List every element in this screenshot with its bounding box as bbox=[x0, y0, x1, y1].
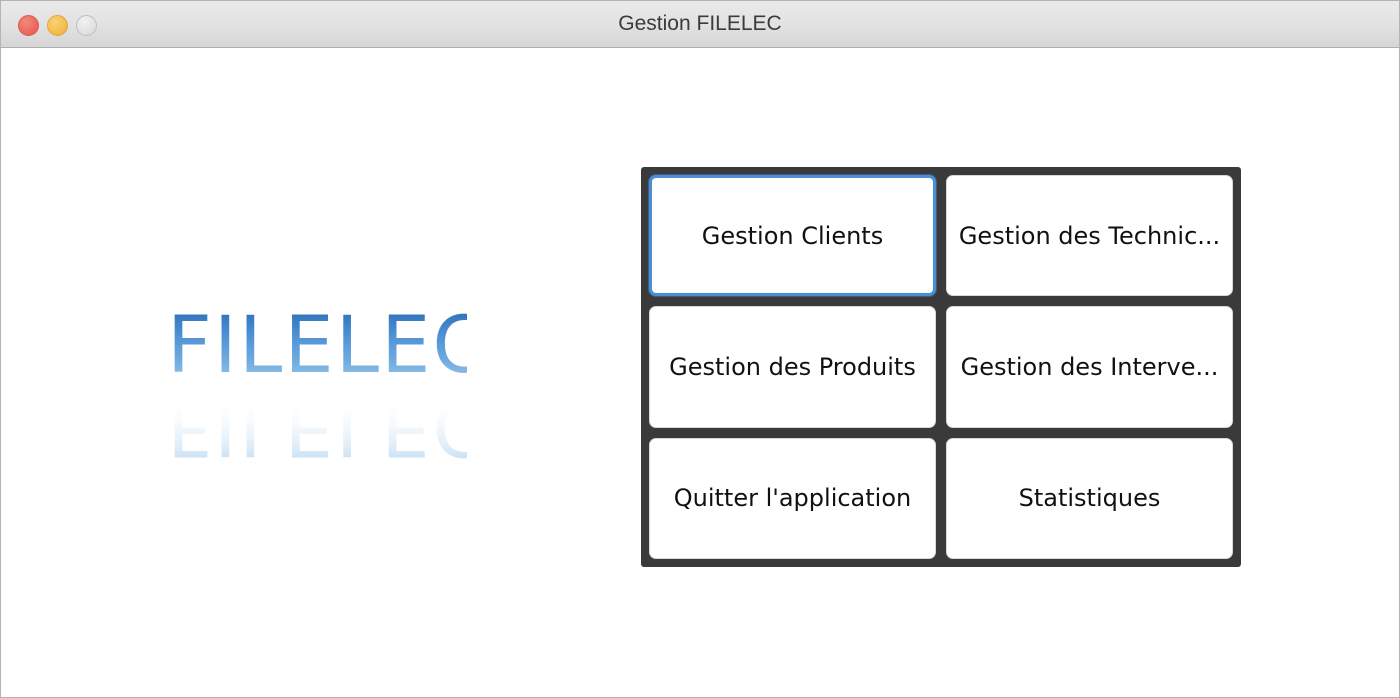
application-window: Gestion FILELEC FILELEC FILELEC Gestion … bbox=[0, 0, 1400, 698]
menu-button-gestion-interventions[interactable]: Gestion des Interve... bbox=[946, 306, 1233, 427]
window-titlebar: Gestion FILELEC bbox=[1, 1, 1399, 48]
filelec-logo: FILELEC FILELEC bbox=[167, 307, 467, 482]
menu-button-statistiques[interactable]: Statistiques bbox=[946, 438, 1233, 559]
menu-button-gestion-produits[interactable]: Gestion des Produits bbox=[649, 306, 936, 427]
logo-text: FILELEC bbox=[167, 307, 467, 385]
menu-button-gestion-clients[interactable]: Gestion Clients bbox=[649, 175, 936, 296]
menu-button-gestion-techniciens[interactable]: Gestion des Technic... bbox=[946, 175, 1233, 296]
main-menu-panel: Gestion Clients Gestion des Technic... G… bbox=[641, 167, 1241, 567]
window-body: FILELEC FILELEC Gestion Clients Gestion … bbox=[1, 49, 1399, 697]
menu-button-quitter-application[interactable]: Quitter l'application bbox=[649, 438, 936, 559]
logo-reflection: FILELEC bbox=[167, 387, 467, 465]
window-title: Gestion FILELEC bbox=[1, 12, 1399, 36]
